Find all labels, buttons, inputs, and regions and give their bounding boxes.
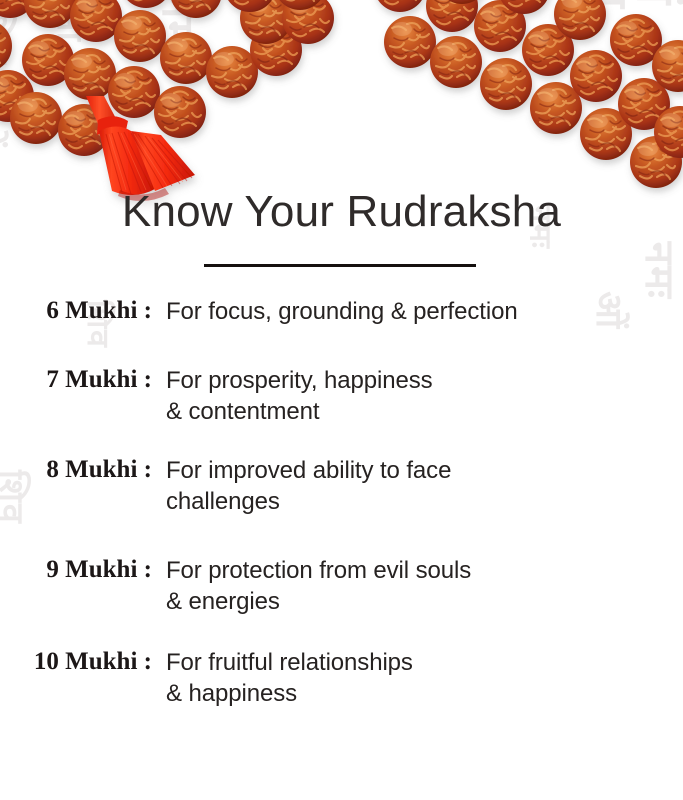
mala-strand-right <box>374 0 683 188</box>
list-item: 7 Mukhi : For prosperity, happiness & co… <box>0 365 683 427</box>
mukhi-label: 8 Mukhi : <box>0 455 166 485</box>
mukhi-label: 9 Mukhi : <box>0 555 166 585</box>
watermark-text: ओं <box>0 108 14 149</box>
list-item: 10 Mukhi : For fruitful relationships & … <box>0 647 683 709</box>
mukhi-description-line1: For fruitful relationships <box>166 649 413 676</box>
list-item: 9 Mukhi : For protection from evil souls… <box>0 555 683 617</box>
mukhi-description-line2: & contentment <box>166 396 667 427</box>
mukhi-description-line1: For improved ability to face <box>166 457 451 484</box>
watermark-text: ओं <box>47 4 96 43</box>
mukhi-description: For fruitful relationships & happiness <box>166 647 683 709</box>
mukhi-description-line2: challenges <box>166 486 667 517</box>
mukhi-description-line1: For focus, grounding & perfection <box>166 298 518 325</box>
mukhi-description-line1: For protection from evil souls <box>166 557 471 584</box>
watermark-text: नमः <box>634 242 683 300</box>
list-item: 8 Mukhi : For improved ability to face c… <box>0 455 683 517</box>
mukhi-description-line2: & happiness <box>166 678 667 709</box>
mala-strand-left <box>0 0 334 156</box>
mukhi-label: 7 Mukhi : <box>0 365 166 395</box>
watermark-text: नमः <box>150 0 210 58</box>
list-item: 6 Mukhi : For focus, grounding & perfect… <box>0 296 683 327</box>
watermark-text: शिवाय <box>581 0 643 10</box>
mukhi-description: For prosperity, happiness & contentment <box>166 365 683 427</box>
watermark-text: शिव <box>0 2 24 66</box>
mukhi-description-line2: & energies <box>166 586 667 617</box>
title-divider <box>204 264 476 267</box>
mukhi-list: 6 Mukhi : For focus, grounding & perfect… <box>0 296 683 709</box>
mukhi-description: For focus, grounding & perfection <box>166 296 683 327</box>
watermark-text: ओं <box>622 0 683 6</box>
mukhi-label: 6 Mukhi : <box>0 296 166 326</box>
mukhi-description-line1: For prosperity, happiness <box>166 367 433 394</box>
mukhi-label: 10 Mukhi : <box>0 647 166 677</box>
page-title: Know Your Rudraksha <box>0 186 683 238</box>
rudraksha-info-poster: शिव ओं नमः शिवाय ओं नमः शिव ओं शिवाय नमः… <box>0 0 683 800</box>
mukhi-description: For protection from evil souls & energie… <box>166 555 683 617</box>
mukhi-description: For improved ability to face challenges <box>166 455 683 517</box>
